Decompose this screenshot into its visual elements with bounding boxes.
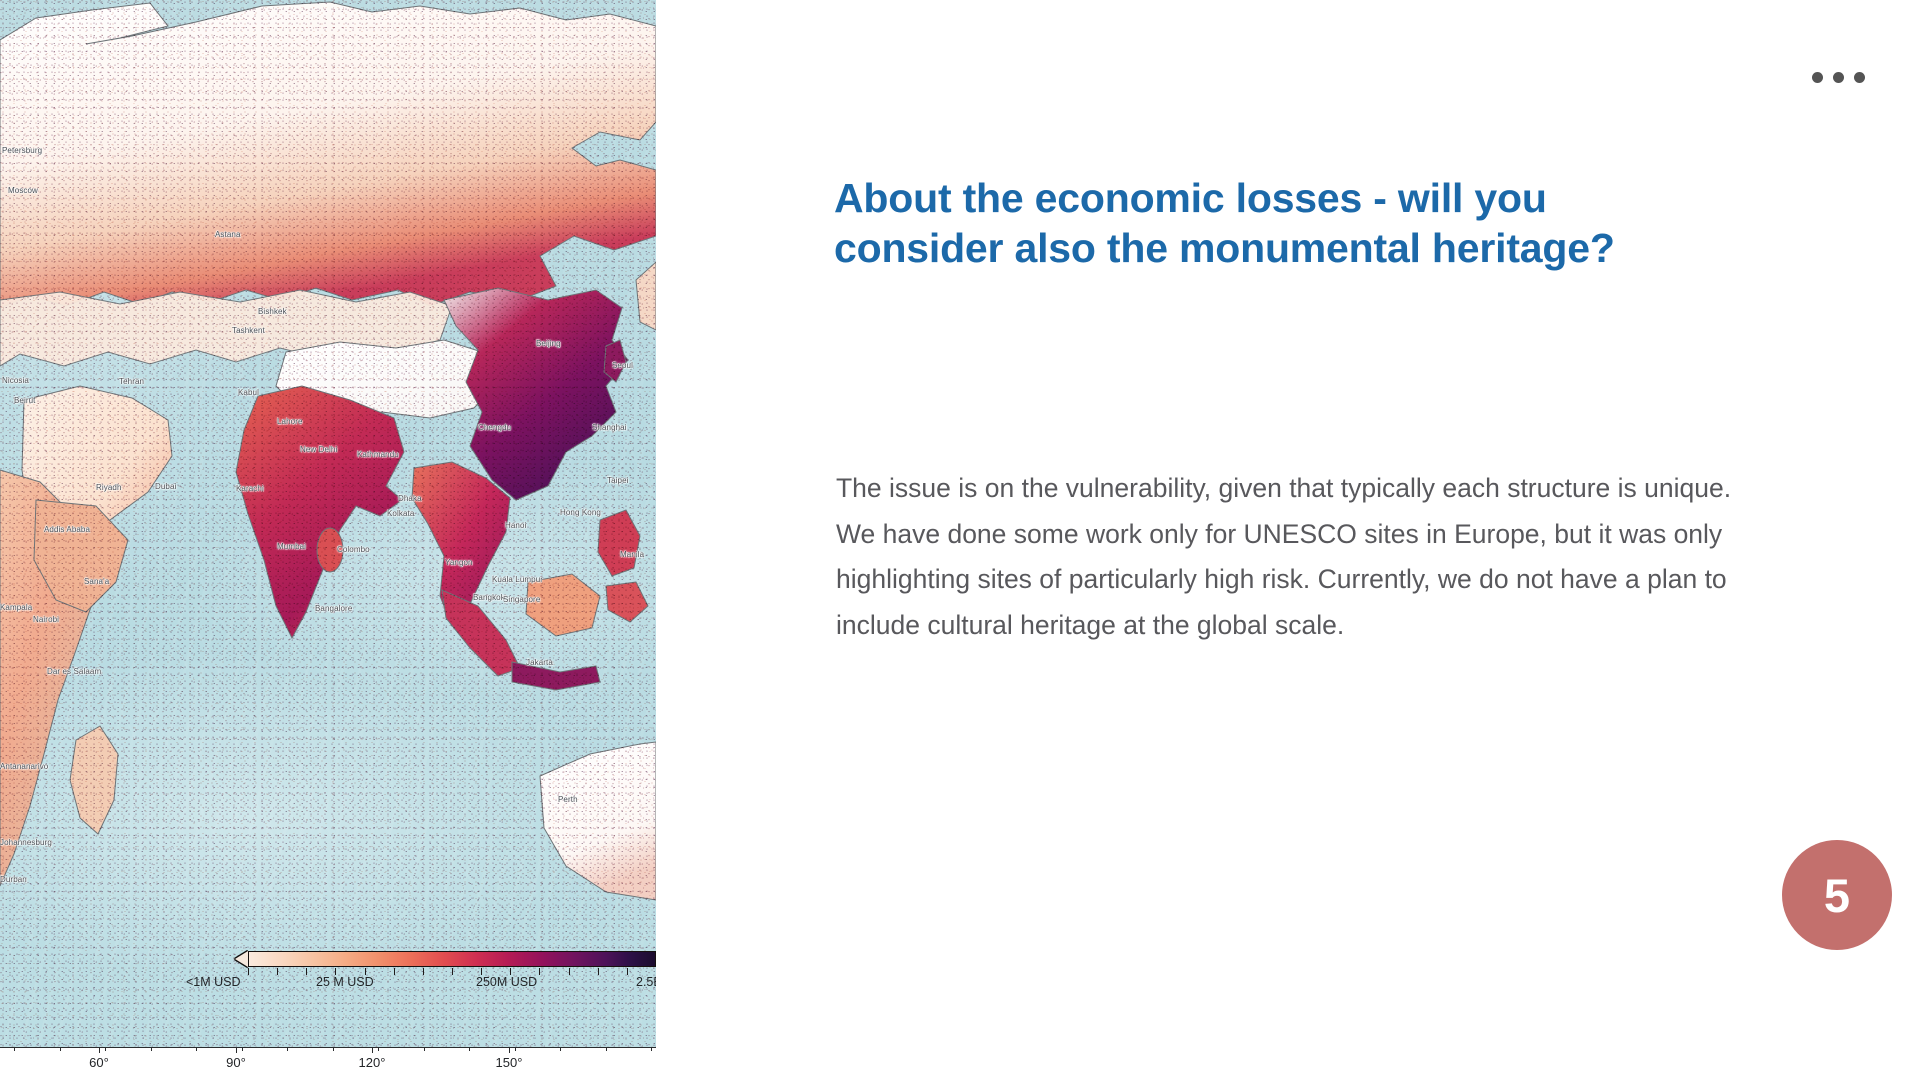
colorbar-label: <1M USD	[186, 975, 241, 989]
page-number-badge[interactable]: 5	[1782, 840, 1892, 950]
longitude-minor-tick	[60, 1047, 61, 1051]
map-longitude-axis: 60°90°120°150°	[0, 1047, 656, 1080]
map-figure[interactable]: MoscowPetersburgAstanaBishkekTashkentTeh…	[0, 0, 656, 1047]
colorbar-label: 250M USD	[476, 975, 537, 989]
colorbar-tick	[569, 968, 570, 975]
longitude-major-tick	[99, 1047, 100, 1053]
map-panel[interactable]: MoscowPetersburgAstanaBishkekTashkentTeh…	[0, 0, 656, 1080]
kebab-dot	[1812, 72, 1823, 83]
longitude-tick-label: 150°	[496, 1055, 523, 1070]
longitude-minor-tick	[333, 1047, 334, 1051]
longitude-minor-tick	[651, 1047, 652, 1051]
colorbar-tick	[335, 968, 336, 975]
longitude-minor-tick	[515, 1047, 516, 1051]
colorbar-tick	[365, 968, 366, 975]
longitude-minor-tick	[287, 1047, 288, 1051]
colorbar-tick	[452, 968, 453, 975]
colorbar-tick	[627, 968, 628, 975]
longitude-minor-tick	[469, 1047, 470, 1051]
colorbar-label: 2.5B USD	[636, 975, 656, 989]
longitude-minor-tick	[151, 1047, 152, 1051]
colorbar-tick	[306, 968, 307, 975]
longitude-tick-label: 120°	[359, 1055, 386, 1070]
longitude-minor-tick	[14, 1047, 15, 1051]
colorbar-tick	[539, 968, 540, 975]
colorbar-tick	[248, 968, 249, 975]
longitude-minor-tick	[196, 1047, 197, 1051]
colorbar-tick	[423, 968, 424, 975]
colorbar-tick	[598, 968, 599, 975]
longitude-major-tick	[372, 1047, 373, 1053]
kebab-dot	[1833, 72, 1844, 83]
colorbar-tick	[277, 968, 278, 975]
colorbar-label: 25 M USD	[316, 975, 374, 989]
colorbar-tick	[394, 968, 395, 975]
kebab-dot	[1854, 72, 1865, 83]
longitude-tick-label: 60°	[89, 1055, 109, 1070]
colorbar-low-extend-arrow-icon	[235, 951, 248, 967]
colorbar-tick	[510, 968, 511, 975]
colorbar-tick	[481, 968, 482, 975]
longitude-minor-tick	[242, 1047, 243, 1051]
more-horizontal-icon[interactable]	[1812, 72, 1865, 83]
content-panel: About the economic losses - will you con…	[656, 0, 1920, 1080]
longitude-minor-tick	[105, 1047, 106, 1051]
longitude-major-tick	[509, 1047, 510, 1053]
map-colorbar-legend: <1M USD25 M USD250M USD2.5B USD>	[248, 951, 656, 995]
longitude-minor-tick	[560, 1047, 561, 1051]
slide-body-text: The issue is on the vulnerability, given…	[836, 466, 1756, 648]
slide-headline: About the economic losses - will you con…	[834, 173, 1714, 273]
colorbar-gradient	[248, 951, 656, 967]
slide-root: MoscowPetersburgAstanaBishkekTashkentTeh…	[0, 0, 1920, 1080]
colorbar-ticks	[248, 968, 656, 975]
longitude-major-tick	[236, 1047, 237, 1053]
longitude-tick-label: 90°	[226, 1055, 246, 1070]
longitude-minor-tick	[606, 1047, 607, 1051]
map-risk-raster-overlay	[0, 0, 656, 1047]
longitude-minor-tick	[378, 1047, 379, 1051]
colorbar-tick-labels: <1M USD25 M USD250M USD2.5B USD>	[186, 975, 656, 993]
longitude-minor-tick	[424, 1047, 425, 1051]
